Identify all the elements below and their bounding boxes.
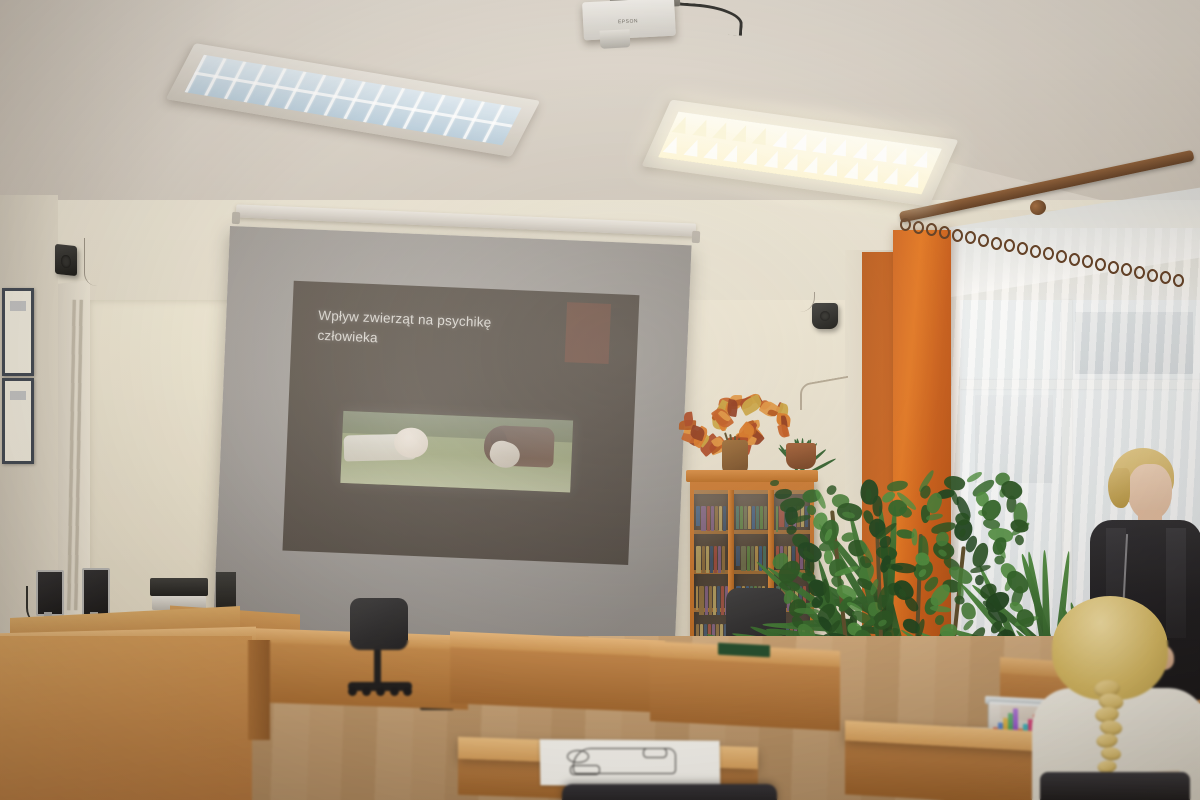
office-chair-back[interactable] <box>350 598 408 650</box>
curtain-ring <box>1030 245 1041 258</box>
chair-caster <box>376 687 385 696</box>
projector-lens <box>600 29 631 49</box>
light-louver <box>703 141 724 159</box>
curtain-ring <box>900 218 911 231</box>
printer <box>150 578 208 596</box>
light-louver <box>893 147 914 165</box>
braid-segment <box>1100 746 1121 761</box>
flower-pot <box>786 443 816 469</box>
curtain-ring <box>926 223 937 236</box>
photo-projection-haze <box>340 411 573 493</box>
worksheet-outline-sleeve <box>570 765 600 775</box>
light-louver <box>783 153 804 171</box>
light-louver <box>663 136 684 154</box>
light-louver <box>692 119 713 137</box>
curtain-ring <box>913 221 924 234</box>
light-louver <box>683 139 704 157</box>
light-louver <box>913 150 934 168</box>
light-louver <box>772 130 793 148</box>
orange-curtain <box>893 230 951 670</box>
curtain-ring <box>1173 274 1184 287</box>
light-louver <box>884 167 905 185</box>
bookcase-glass-door <box>694 490 730 648</box>
framed-certificate <box>2 378 34 464</box>
curtain-rings <box>900 214 1200 242</box>
light-louver <box>743 147 764 165</box>
student-chair[interactable] <box>1040 772 1190 800</box>
light-louver <box>864 164 885 182</box>
light-louver <box>873 144 894 162</box>
curtain-ring <box>978 234 989 247</box>
curtain-ring <box>1017 242 1028 255</box>
slide-title: Wpływ zwierząt na psychikę człowieka <box>317 306 568 356</box>
curtain-ring <box>1134 266 1145 279</box>
projection-screen[interactable]: Wpływ zwierząt na psychikę człowieka <box>213 226 692 655</box>
curtain-ring <box>1108 261 1119 274</box>
teacher-desk-side <box>248 640 270 740</box>
light-louver <box>672 116 693 134</box>
teacher-desk <box>0 636 252 800</box>
light-louver <box>832 138 853 156</box>
projected-slide: Wpływ zwierząt na psychikę człowieka <box>282 281 639 565</box>
light-louver <box>812 136 833 154</box>
chair-post <box>374 646 381 688</box>
light-louver <box>723 144 744 162</box>
curtain-ring <box>1056 250 1067 263</box>
framed-certificate <box>2 288 34 376</box>
light-louver <box>844 161 865 179</box>
classroom-photo: EPSON Wpływ zwierząt na psychikę człowie… <box>0 0 1200 800</box>
light-louver <box>732 124 753 142</box>
chair-caster <box>390 687 399 696</box>
light-louver <box>712 121 733 139</box>
computer-monitor <box>82 568 110 616</box>
teacher-hair-side <box>1108 468 1130 508</box>
curtain-ring <box>991 237 1002 250</box>
light-louver <box>904 170 925 188</box>
light-louver <box>803 155 824 173</box>
worksheet-drawing <box>556 744 696 780</box>
chair-caster <box>362 687 371 696</box>
bookcase-column <box>694 490 730 648</box>
speaker-icon <box>812 303 838 329</box>
light-louver <box>853 141 874 159</box>
student-chair[interactable] <box>562 784 777 800</box>
chair-caster <box>348 687 357 696</box>
slide-photo-baby-and-dog <box>340 411 573 493</box>
speaker-cable <box>84 238 97 286</box>
curtain-ring <box>1069 253 1080 266</box>
light-louver <box>792 133 813 151</box>
light-louver <box>824 158 845 176</box>
slide-title-line1: Wpływ zwierząt na psychikę <box>318 308 492 330</box>
small-plant-leaves <box>780 408 824 448</box>
slide-title-line2: człowieka <box>317 327 378 345</box>
light-louver <box>752 127 773 145</box>
chair-caster <box>403 687 412 696</box>
curtain-ring <box>1095 258 1106 271</box>
person-student <box>1032 596 1200 800</box>
screen-roller-cap <box>232 212 240 224</box>
light-louver <box>763 150 784 168</box>
autumn-leaf <box>726 399 738 417</box>
curtain-ring <box>1147 269 1158 282</box>
speaker-icon <box>55 244 77 276</box>
screen-roller-cap <box>692 231 700 243</box>
worksheet-outline-sleeve <box>643 748 667 758</box>
curtain-ring <box>952 229 963 242</box>
curtain-ring <box>939 226 950 239</box>
slide-accent-block <box>565 302 611 364</box>
